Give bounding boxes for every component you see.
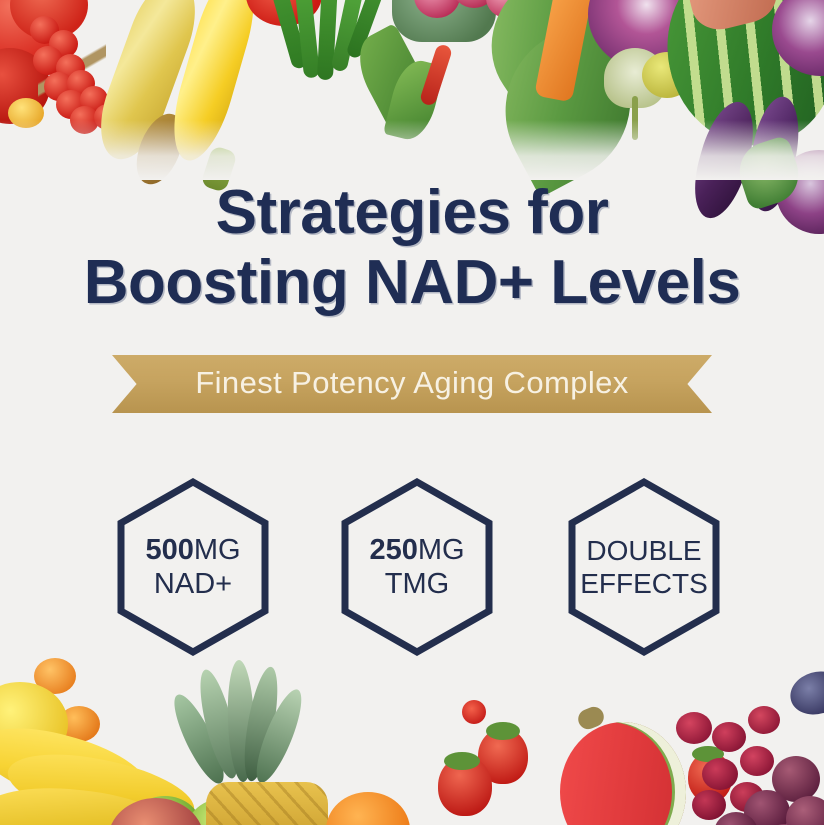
badge-dose-unit: MG: [194, 534, 241, 566]
headline-line-2: Boosting NAD+ Levels: [0, 248, 824, 318]
badge-line-2: EFFECTS: [580, 569, 708, 598]
badge-dose-unit: MG: [418, 534, 465, 566]
ribbon-label: Finest Potency Aging Complex: [112, 355, 712, 413]
badge-dose-value: 500: [145, 534, 193, 566]
badge-line-2: TMG: [385, 569, 449, 599]
badge-line-1: 500MG: [145, 535, 240, 565]
badge-claim-line-2: EFFECTS: [580, 568, 708, 599]
badge-row: 500MG NAD+ 250MG TMG DOUBLE: [0, 478, 824, 656]
badge-ingredient: NAD+: [154, 568, 232, 600]
badge-250mg-tmg: 250MG TMG: [341, 478, 493, 656]
badge-line-2: NAD+: [154, 569, 232, 599]
promo-graphic: Strategies for Boosting NAD+ Levels Fine…: [0, 0, 824, 825]
tagline-ribbon: Finest Potency Aging Complex: [112, 355, 712, 413]
headline-line-1: Strategies for: [0, 178, 824, 248]
badge-text: 500MG NAD+: [117, 478, 269, 656]
badge-ingredient: TMG: [385, 568, 449, 600]
badge-dose-value: 250: [369, 534, 417, 566]
badge-claim-line-1: DOUBLE: [586, 535, 701, 566]
badge-line-1: DOUBLE: [586, 536, 701, 565]
badge-line-1: 250MG: [369, 535, 464, 565]
badge-text: DOUBLE EFFECTS: [568, 478, 720, 656]
badge-text: 250MG TMG: [341, 478, 493, 656]
promo-content: Strategies for Boosting NAD+ Levels Fine…: [0, 0, 824, 825]
badge-double-effects: DOUBLE EFFECTS: [568, 478, 720, 656]
badge-500mg-nad: 500MG NAD+: [117, 478, 269, 656]
page-title: Strategies for Boosting NAD+ Levels: [0, 178, 824, 318]
